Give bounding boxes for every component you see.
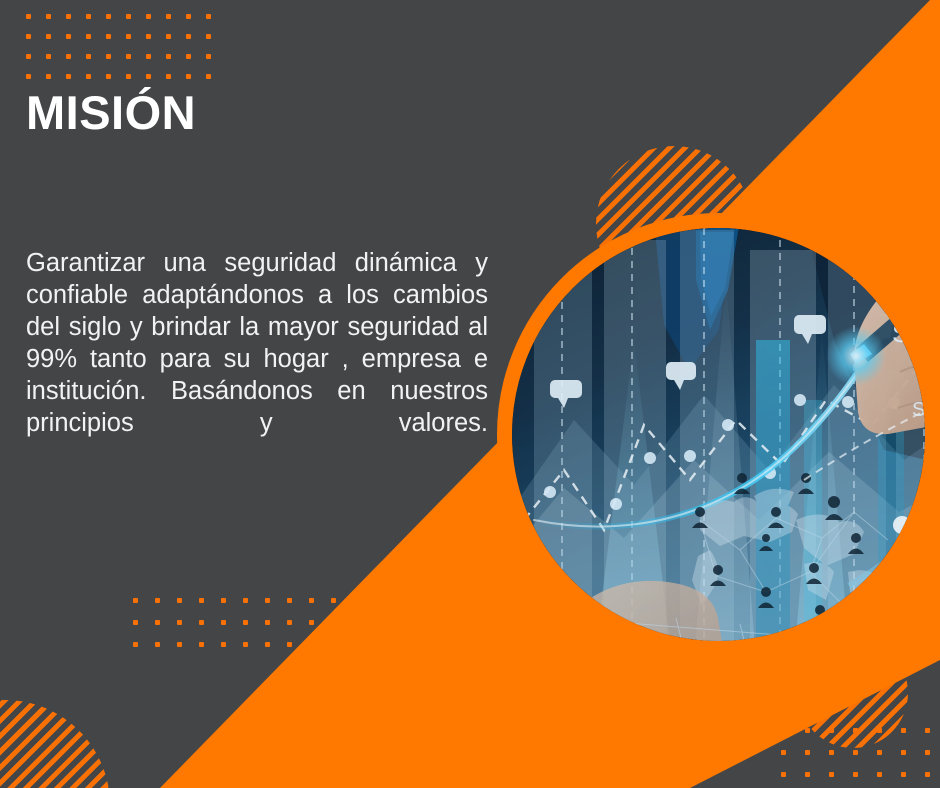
dot bbox=[829, 728, 834, 733]
dot bbox=[877, 772, 882, 777]
dot bbox=[243, 620, 248, 625]
dot bbox=[781, 750, 786, 755]
dot bbox=[126, 74, 131, 79]
dot bbox=[925, 750, 930, 755]
business-analytics-photo: Suc Solut Business Stra Innovation Brand… bbox=[512, 228, 925, 641]
dot bbox=[26, 74, 31, 79]
dot bbox=[177, 620, 182, 625]
dot bbox=[126, 34, 131, 39]
dot-grid-top-left bbox=[26, 14, 226, 94]
dot bbox=[106, 14, 111, 19]
dot bbox=[221, 642, 226, 647]
dot bbox=[805, 728, 810, 733]
svg-text:Management: Management bbox=[918, 622, 925, 633]
dot bbox=[66, 54, 71, 59]
dot bbox=[155, 598, 160, 603]
dot bbox=[106, 74, 111, 79]
dot bbox=[243, 598, 248, 603]
svg-text:Success: Success bbox=[918, 610, 925, 621]
business-analytics-photo-illustration: Suc Solut Business Stra Innovation Brand… bbox=[512, 228, 925, 641]
dot bbox=[199, 620, 204, 625]
dot bbox=[901, 728, 906, 733]
dot bbox=[781, 772, 786, 777]
dot bbox=[287, 620, 292, 625]
dot bbox=[155, 620, 160, 625]
dot bbox=[133, 642, 138, 647]
dot bbox=[177, 642, 182, 647]
dot bbox=[805, 750, 810, 755]
dot bbox=[177, 598, 182, 603]
dot bbox=[46, 74, 51, 79]
dot bbox=[805, 772, 810, 777]
dot bbox=[126, 14, 131, 19]
dot bbox=[206, 74, 211, 79]
dot bbox=[331, 598, 336, 603]
dot bbox=[877, 750, 882, 755]
dot bbox=[186, 34, 191, 39]
dot bbox=[186, 14, 191, 19]
dot bbox=[133, 620, 138, 625]
dot bbox=[199, 598, 204, 603]
dot bbox=[26, 14, 31, 19]
dot bbox=[206, 54, 211, 59]
dot bbox=[309, 620, 314, 625]
page-title: MISIÓN bbox=[26, 88, 488, 137]
dot bbox=[309, 598, 314, 603]
dot bbox=[66, 14, 71, 19]
dot bbox=[186, 54, 191, 59]
dot bbox=[199, 642, 204, 647]
dot bbox=[287, 642, 292, 647]
svg-text:Ideas: Ideas bbox=[918, 598, 925, 609]
dot bbox=[86, 54, 91, 59]
dot bbox=[126, 54, 131, 59]
dot bbox=[853, 728, 858, 733]
dot bbox=[133, 598, 138, 603]
dot bbox=[829, 750, 834, 755]
dot bbox=[86, 14, 91, 19]
dot bbox=[166, 34, 171, 39]
dot bbox=[155, 642, 160, 647]
mission-paragraph: Garantizar una seguridad dinámica y conf… bbox=[26, 247, 488, 471]
dot bbox=[146, 14, 151, 19]
dot bbox=[66, 34, 71, 39]
dot bbox=[265, 598, 270, 603]
dot bbox=[166, 54, 171, 59]
dot bbox=[853, 772, 858, 777]
dot bbox=[86, 34, 91, 39]
dot bbox=[265, 642, 270, 647]
dot bbox=[146, 54, 151, 59]
dot bbox=[901, 750, 906, 755]
dot bbox=[26, 34, 31, 39]
slide-canvas: MISIÓN Garantizar una seguridad dinámica… bbox=[0, 0, 940, 788]
dot bbox=[901, 772, 906, 777]
dot bbox=[853, 750, 858, 755]
dot bbox=[46, 54, 51, 59]
dot bbox=[66, 74, 71, 79]
dot bbox=[186, 74, 191, 79]
dot bbox=[243, 642, 248, 647]
dot bbox=[925, 728, 930, 733]
dot bbox=[166, 74, 171, 79]
dot bbox=[26, 54, 31, 59]
text-column: MISIÓN bbox=[26, 88, 488, 137]
photo-circle-frame: Suc Solut Business Stra Innovation Brand… bbox=[497, 213, 940, 656]
dot bbox=[146, 34, 151, 39]
dot bbox=[287, 598, 292, 603]
dot bbox=[206, 14, 211, 19]
dot bbox=[46, 14, 51, 19]
dot bbox=[877, 728, 882, 733]
dot bbox=[146, 74, 151, 79]
striped-circle-icon-bottom-left bbox=[0, 700, 110, 788]
dot bbox=[925, 772, 930, 777]
dot bbox=[86, 74, 91, 79]
dot bbox=[221, 620, 226, 625]
dot bbox=[829, 772, 834, 777]
dot bbox=[46, 34, 51, 39]
dot bbox=[166, 14, 171, 19]
dot bbox=[265, 620, 270, 625]
dot bbox=[221, 598, 226, 603]
dot-grid-bottom-right bbox=[781, 728, 940, 788]
dot bbox=[206, 34, 211, 39]
dot bbox=[106, 34, 111, 39]
dot bbox=[106, 54, 111, 59]
